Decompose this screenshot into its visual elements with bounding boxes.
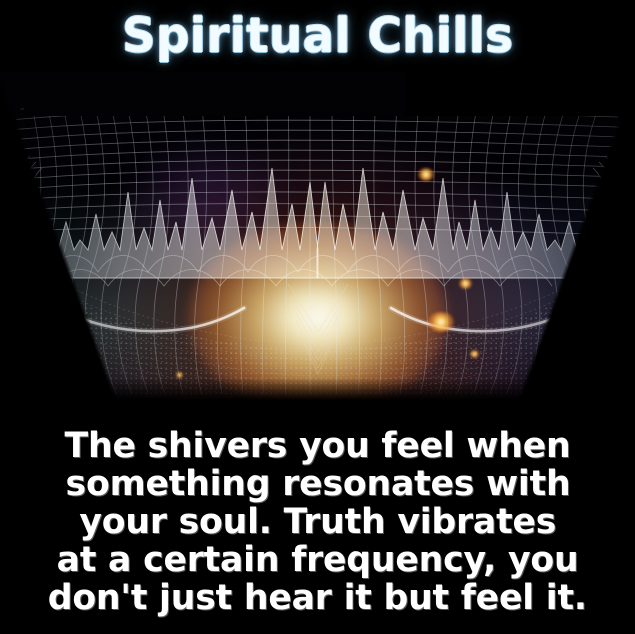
- spark-upper-right: [418, 168, 434, 181]
- spark-mid-right: [459, 278, 472, 289]
- spark-lower-right: [470, 350, 479, 358]
- photo-panel: [0, 72, 635, 404]
- caption-block: The shivers you feel when something reso…: [0, 404, 635, 634]
- photo-bottom-fade: [0, 378, 635, 404]
- meme-title: Spiritual Chills: [122, 8, 513, 64]
- caption-line-4: at a certain frequency, you: [57, 541, 579, 579]
- caption-line-1: The shivers you feel when: [65, 427, 571, 465]
- spark-right-eye: [428, 312, 454, 332]
- title-bar: Spiritual Chills: [0, 0, 635, 72]
- caption-line-5: don't just hear it but feel it.: [48, 579, 587, 617]
- caption-line-2: something resonates with: [65, 465, 570, 503]
- caption-line-3: your soul. Truth vibrates: [79, 503, 556, 541]
- photo-bottom-right-wedge: [515, 72, 635, 404]
- meme-image: Spiritual Chills: [0, 0, 635, 634]
- central-light-burst: [188, 222, 448, 404]
- photo-bottom-left-wedge: [0, 72, 120, 404]
